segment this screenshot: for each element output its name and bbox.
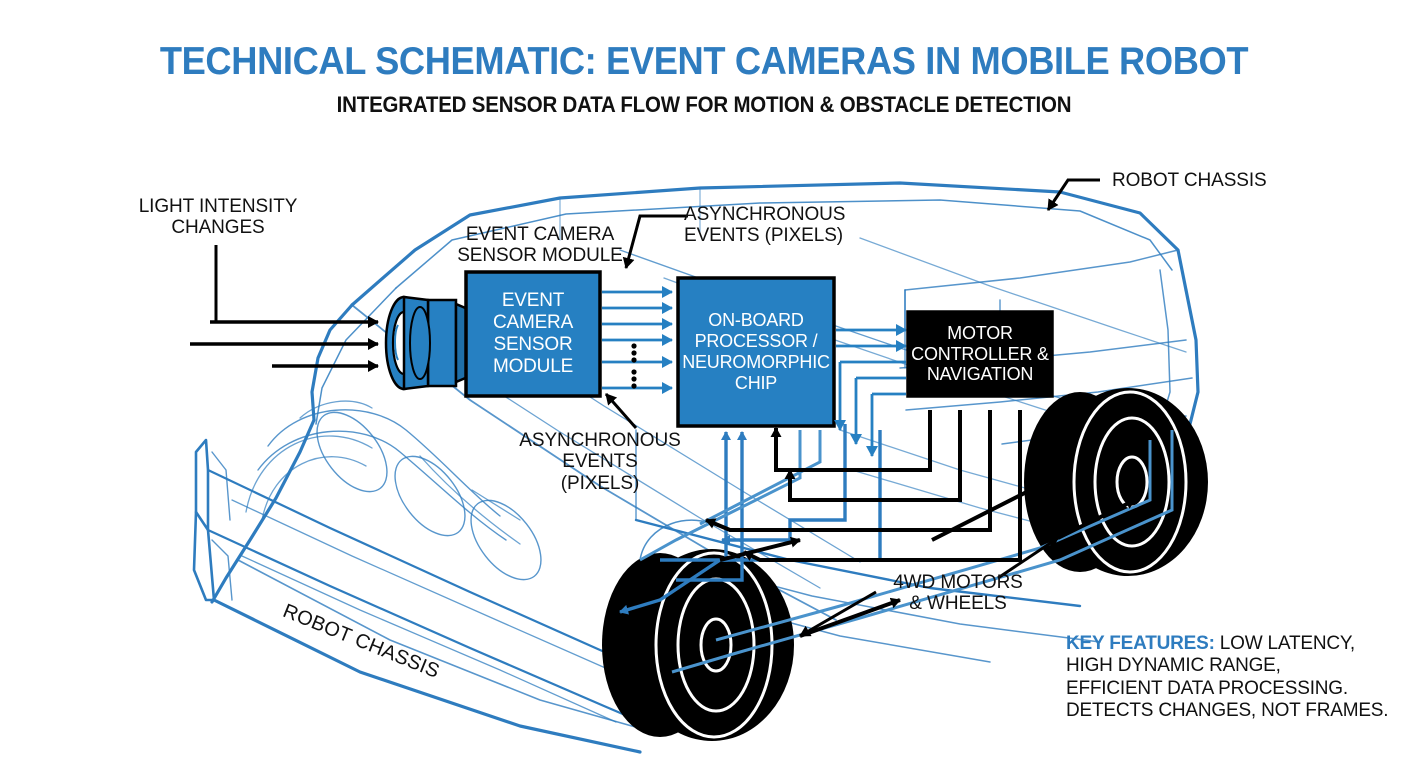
- key-features-line4: DETECTS CHANGES, NOT FRAMES.: [1066, 700, 1388, 721]
- camera-lens-assembly: [386, 297, 470, 389]
- event-camera-box-label: EVENT CAMERA SENSOR MODULE: [466, 272, 600, 396]
- light-intensity-label: LIGHT INTENSITY CHANGES: [118, 196, 318, 239]
- schematic-canvas: TECHNICAL SCHEMATIC: EVENT CAMERAS IN MO…: [0, 0, 1408, 768]
- processor-to-motor-arrows: [836, 330, 906, 456]
- key-features-line3: EFFICIENT DATA PROCESSING.: [1066, 678, 1348, 699]
- light-rays: [190, 322, 378, 366]
- motors-wheels-label: 4WD MOTORS & WHEELS: [858, 572, 1058, 615]
- key-features-heading: KEY FEATURES:: [1066, 633, 1215, 654]
- camera-to-processor-arrows: [602, 292, 672, 388]
- key-features-line1: LOW LATENCY,: [1215, 633, 1355, 654]
- motor-controller-box-label: MOTOR CONTROLLER & NAVIGATION: [908, 312, 1052, 396]
- processor-box-label: ON-BOARD PROCESSOR / NEUROMORPHIC CHIP: [678, 278, 834, 426]
- async-events-bottom-label: ASYNCHRONOUS EVENTS (PIXELS): [500, 430, 700, 494]
- bus-ellipsis-dots: [631, 343, 636, 388]
- key-features-line2: HIGH DYNAMIC RANGE,: [1066, 655, 1281, 676]
- async-events-top-label: ASYNCHRONOUS EVENTS (PIXELS): [684, 204, 845, 247]
- robot-chassis-right-label: ROBOT CHASSIS: [1112, 170, 1267, 191]
- key-features-block: KEY FEATURES: LOW LATENCY, HIGH DYNAMIC …: [1066, 633, 1388, 723]
- event-camera-module-title: EVENT CAMERA SENSOR MODULE: [440, 224, 640, 267]
